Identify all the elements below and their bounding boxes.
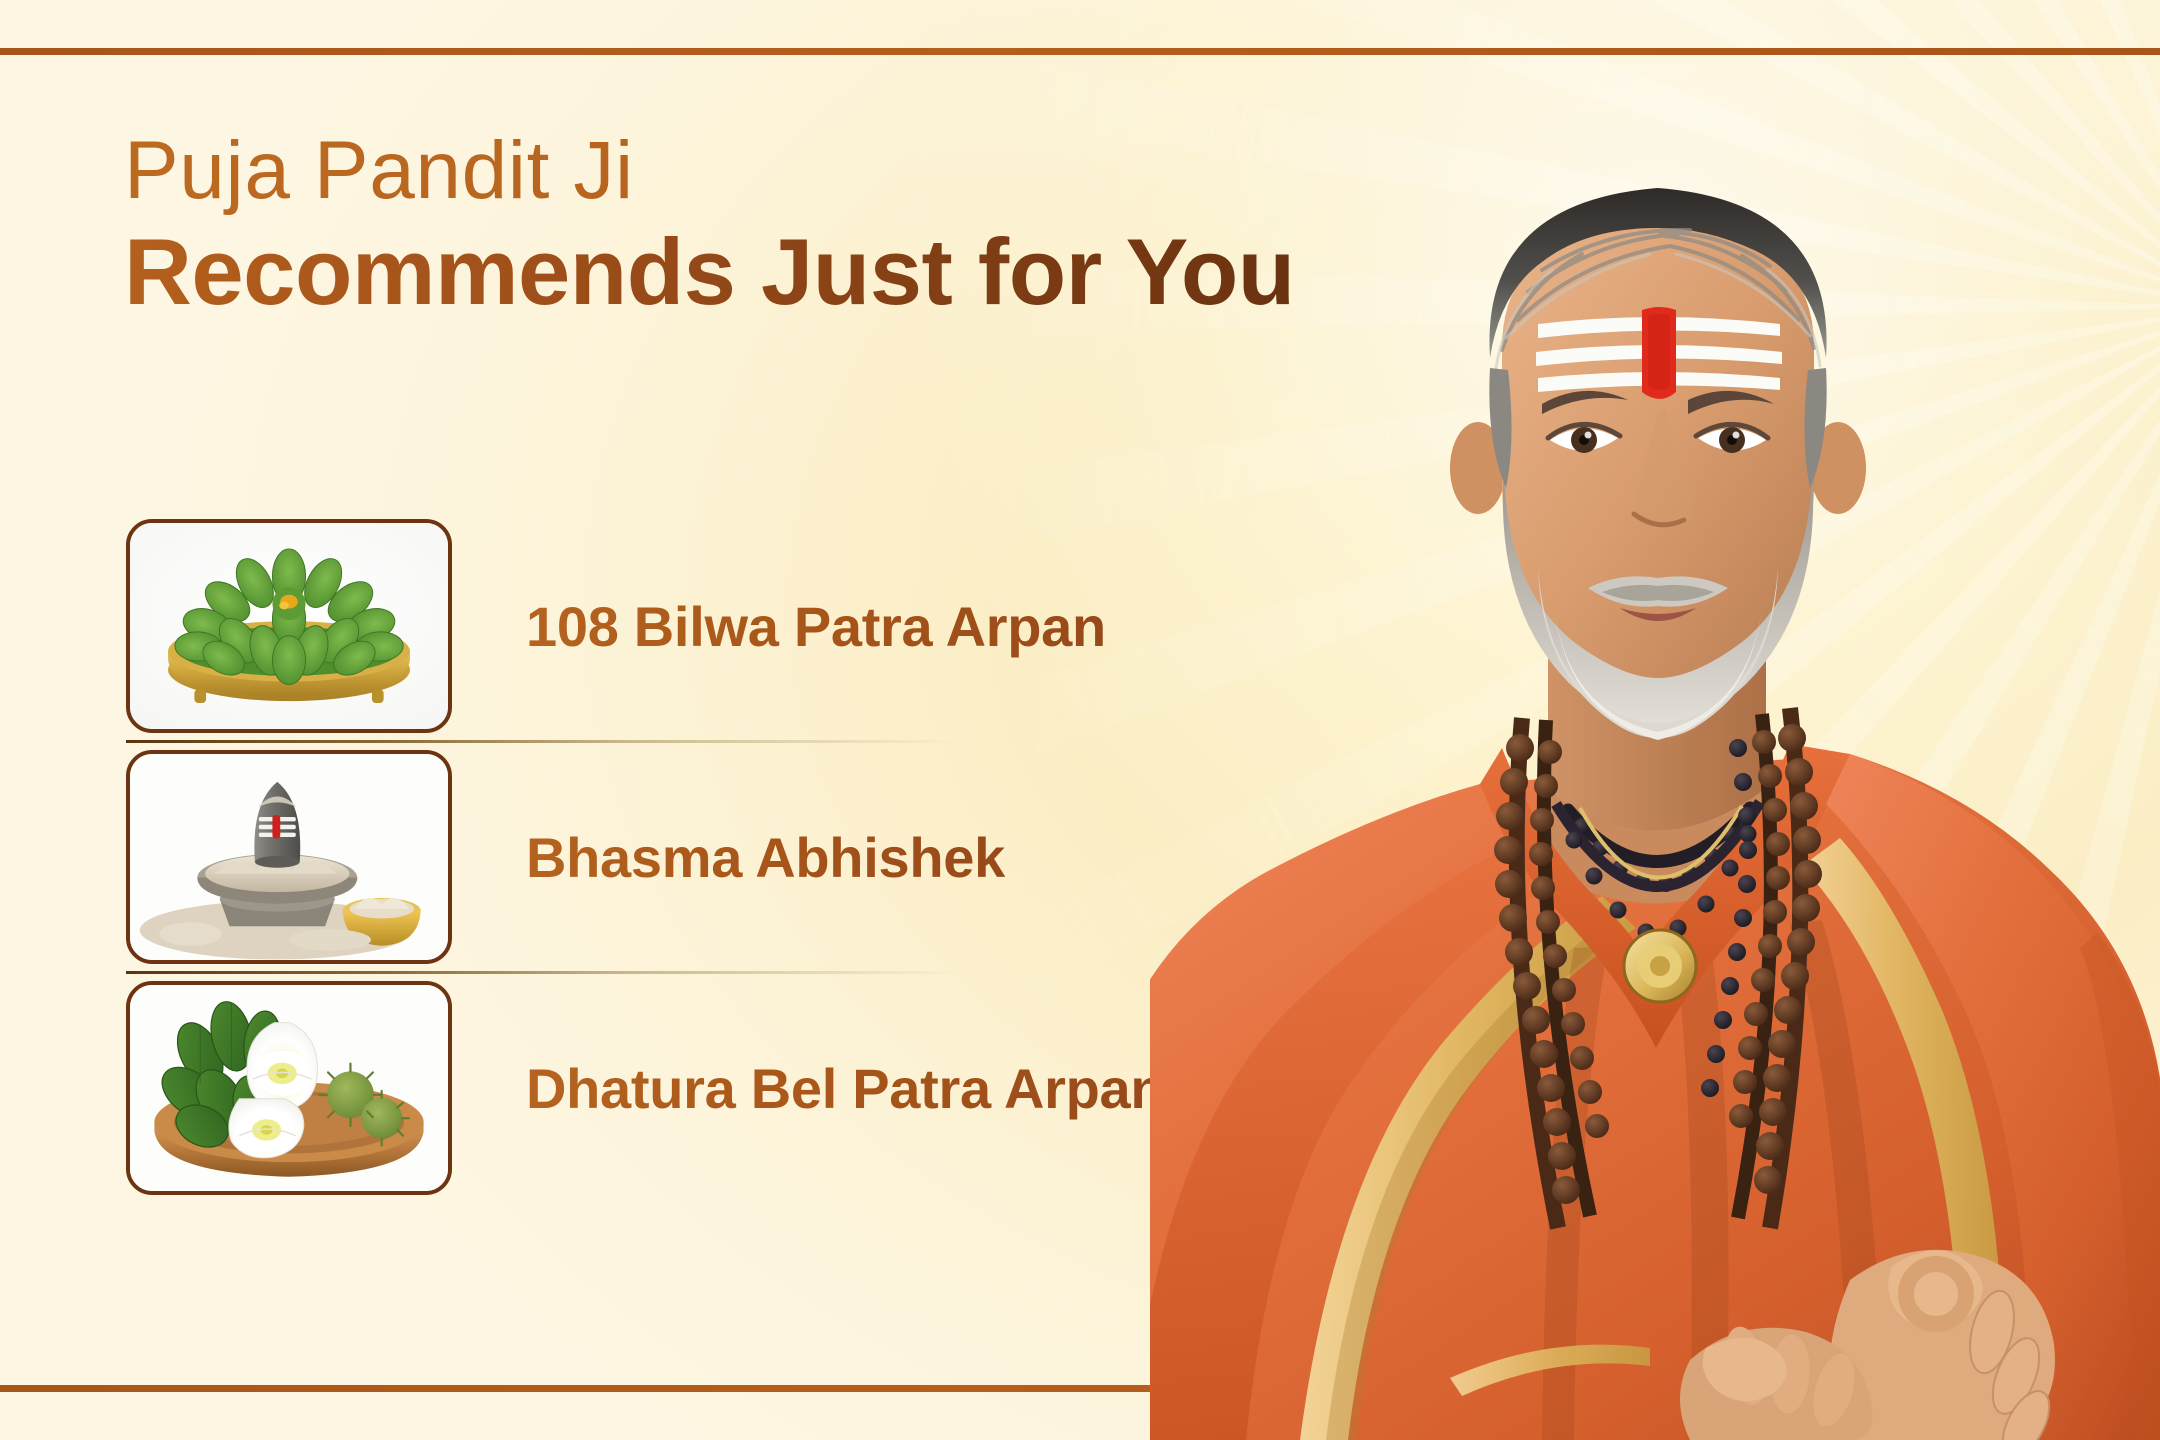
dhatura-bel-patra-image (126, 981, 452, 1195)
list-item[interactable]: Bhasma Abhishek (126, 743, 1246, 971)
promo-banner: Puja Pandit Ji Recommends Just for You (0, 0, 2160, 1440)
recommendation-list: 108 Bilwa Patra Arpan (126, 512, 1246, 1202)
list-item[interactable]: 108 Bilwa Patra Arpan (126, 512, 1246, 740)
list-item-label: Dhatura Bel Patra Arpan (526, 1056, 1164, 1121)
bhasma-abhishek-image (126, 750, 452, 964)
bilwa-patra-tray-image (126, 519, 452, 733)
list-item[interactable]: Dhatura Bel Patra Arpan (126, 974, 1246, 1202)
headline-block: Puja Pandit Ji Recommends Just for You (124, 128, 1544, 322)
bottom-divider-rule (0, 1385, 2160, 1392)
list-item-label: 108 Bilwa Patra Arpan (526, 594, 1106, 659)
top-divider-rule (0, 48, 2160, 55)
headline-line-2: Recommends Just for You (124, 221, 1544, 323)
headline-line-1: Puja Pandit Ji (124, 128, 1544, 215)
list-item-label: Bhasma Abhishek (526, 825, 1005, 890)
